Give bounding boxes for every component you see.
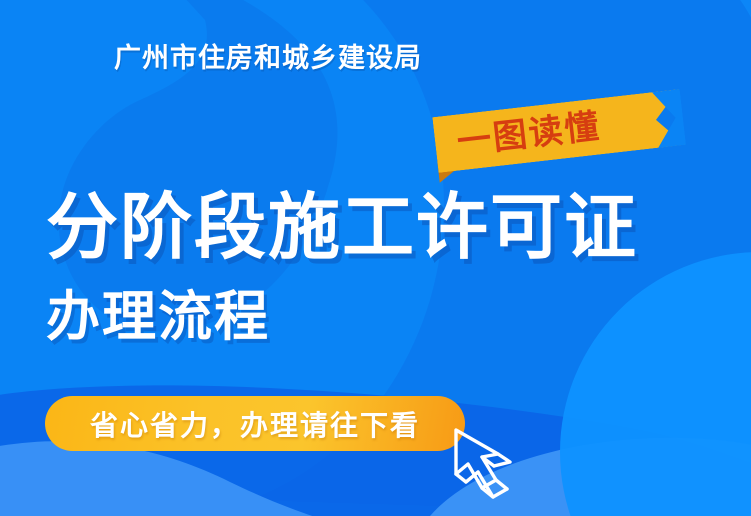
cta-label: 省心省力，办理请往下看: [90, 404, 420, 444]
poster-canvas: 广州市住房和城乡建设局 一图读懂 分阶段施工许可证 办理流程 省心省力，办理请往…: [0, 0, 751, 516]
organization-title: 广州市住房和城乡建设局: [114, 44, 422, 74]
page-title-line2: 办理流程: [46, 285, 270, 349]
cta-pill-button[interactable]: 省心省力，办理请往下看: [45, 396, 465, 451]
arrow-cursor-icon: [448, 424, 532, 510]
page-title-line1: 分阶段施工许可证: [46, 186, 638, 270]
